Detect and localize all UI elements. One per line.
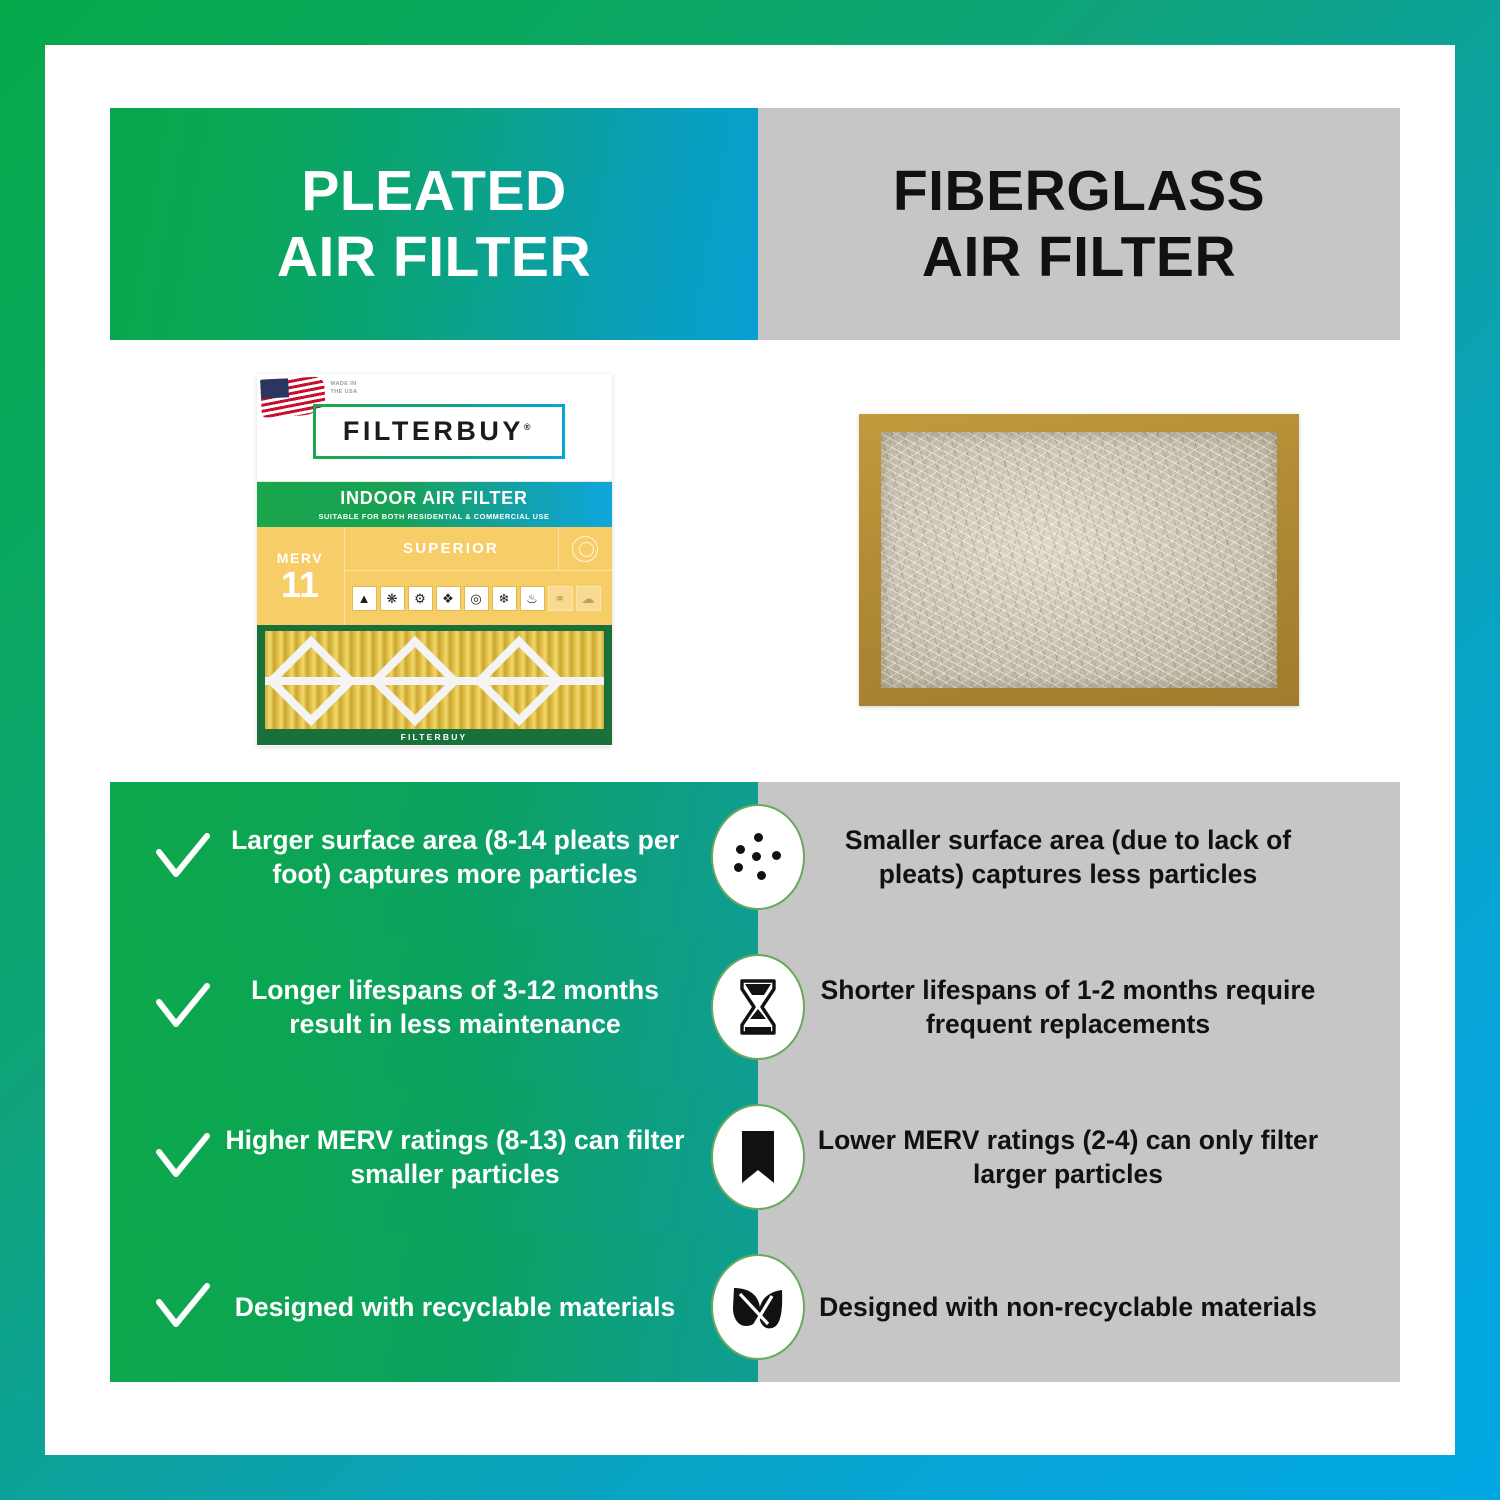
particle-dot [757, 871, 766, 880]
comparison-left-text: Larger surface area (8-14 pleats per foo… [222, 823, 740, 892]
particle-dot [754, 833, 763, 842]
comparison-right-text: Shorter lifespans of 1-2 months require … [806, 973, 1330, 1042]
product-cell-fiberglass [758, 340, 1400, 780]
comparison-row-right: Designed with non-recyclable materials [758, 1232, 1400, 1382]
dust-icon: ▲ [352, 586, 377, 611]
header-pleated: PLEATED AIR FILTER [110, 108, 758, 340]
checkmark-icon [144, 980, 222, 1034]
comparison-row-left: Larger surface area (8-14 pleats per foo… [110, 782, 758, 932]
product-label-top: MADE IN THE USA FILTERBUY® [257, 374, 612, 482]
comparison-row: Larger surface area (8-14 pleats per foo… [110, 782, 1400, 932]
mold-spore-icon: ⚙ [408, 586, 433, 611]
fiberglass-mesh [881, 432, 1277, 688]
header-pleated-line2: AIR FILTER [277, 225, 591, 289]
odor-icon-faded: ⚭ [548, 586, 573, 611]
merv-details: SUPERIOR ▲ ❋ ⚙ ❖ ◎ ❄ [345, 527, 612, 625]
comparison-row-right: Lower MERV ratings (2-4) can only filter… [758, 1082, 1400, 1232]
brand-plate: FILTERBUY® [313, 404, 565, 459]
brand-trademark: ® [524, 422, 534, 432]
comparison-row: Higher MERV ratings (8-13) can filter sm… [110, 1082, 1400, 1232]
comparison-row-left: Designed with recyclable materials [110, 1232, 758, 1382]
bookmark-icon [711, 1104, 805, 1210]
pollen-icon: ❋ [380, 586, 405, 611]
leaf-sprout-icon [711, 1254, 805, 1360]
product-label-band: INDOOR AIR FILTER SUITABLE FOR BOTH RESI… [257, 482, 612, 527]
comparison-left-text: Higher MERV ratings (8-13) can filter sm… [222, 1123, 740, 1192]
brand-name-text: FILTERBUY [343, 416, 524, 446]
checkmark-icon [144, 830, 222, 884]
header-fiberglass: FIBERGLASS AIR FILTER [758, 108, 1400, 340]
pleat-field [265, 631, 604, 731]
particle-dot [736, 845, 745, 854]
particles-dots [732, 831, 784, 883]
band-sub-text: SUITABLE FOR BOTH RESIDENTIAL & COMMERCI… [318, 512, 549, 521]
fiberglass-filter-product-image [859, 414, 1299, 706]
product-label-merv-section: MERV 11 SUPERIOR ▲ [257, 527, 612, 625]
comparison-panel: Larger surface area (8-14 pleats per foo… [110, 782, 1400, 1382]
support-diamond [265, 636, 356, 727]
band-main-text: INDOOR AIR FILTER [340, 488, 528, 509]
brand-name: FILTERBUY® [343, 416, 534, 447]
comparison-right-text: Designed with non-recyclable materials [806, 1290, 1330, 1324]
comparison-left-text: Longer lifespans of 3-12 months result i… [222, 973, 740, 1042]
checkmark-icon [144, 1280, 222, 1334]
feature-icons-row: ▲ ❋ ⚙ ❖ ◎ ❄ ♨ ⚭ ☁ [345, 571, 612, 625]
comparison-row-right: Shorter lifespans of 1-2 months require … [758, 932, 1400, 1082]
made-in-usa-label: MADE IN THE USA [331, 381, 358, 397]
particle-dot [734, 863, 743, 872]
header-pleated-title: PLEATED AIR FILTER [277, 158, 591, 290]
particles-icon [711, 804, 805, 910]
support-diamond [473, 636, 564, 727]
virus-icon: ◎ [464, 586, 489, 611]
header-fiberglass-line1: FIBERGLASS [893, 159, 1265, 223]
header-fiberglass-line2: AIR FILTER [922, 225, 1236, 289]
grade-row: SUPERIOR [345, 527, 612, 571]
made-in-usa-line2: THE USA [331, 389, 358, 395]
certification-seal [558, 527, 612, 570]
checkmark-icon [144, 1130, 222, 1184]
header-fiberglass-title: FIBERGLASS AIR FILTER [893, 158, 1265, 290]
smoke-icon: ♨ [520, 586, 545, 611]
comparison-row-left: Higher MERV ratings (8-13) can filter sm… [110, 1082, 758, 1232]
comparison-right-text: Lower MERV ratings (2-4) can only filter… [806, 1123, 1330, 1192]
particle-dot [772, 851, 781, 860]
pet-dander-icon: ❄ [492, 586, 517, 611]
seal-icon [572, 536, 598, 562]
pleated-filter-product-image: MADE IN THE USA FILTERBUY® INDOOR AIR FI… [257, 374, 612, 746]
product-cell-pleated: MADE IN THE USA FILTERBUY® INDOOR AIR FI… [110, 340, 758, 780]
gradient-border-frame: PLEATED AIR FILTER FIBERGLASS AIR FILTER [0, 0, 1500, 1500]
infographic-canvas: PLEATED AIR FILTER FIBERGLASS AIR FILTER [45, 45, 1455, 1455]
comparison-row-right: Smaller surface area (due to lack of ple… [758, 782, 1400, 932]
smog-icon-faded: ☁ [576, 586, 601, 611]
bacteria-icon: ❖ [436, 586, 461, 611]
pleated-media-area: FILTERBUY [257, 625, 612, 745]
made-in-usa-line1: MADE IN [331, 381, 357, 387]
particle-dot [752, 852, 761, 861]
comparison-row: Longer lifespans of 3-12 months result i… [110, 932, 1400, 1082]
comparison-row-left: Longer lifespans of 3-12 months result i… [110, 932, 758, 1082]
comparison-left-text: Designed with recyclable materials [222, 1290, 740, 1324]
comparison-row: Designed with recyclable materials Desig… [110, 1232, 1400, 1382]
comparison-right-text: Smaller surface area (due to lack of ple… [806, 823, 1330, 892]
merv-rating-block: MERV 11 [257, 527, 345, 625]
product-images-row: MADE IN THE USA FILTERBUY® INDOOR AIR FI… [110, 340, 1400, 780]
product-footer-brand: FILTERBUY [257, 729, 612, 745]
merv-value: 11 [281, 568, 319, 602]
headers-row: PLEATED AIR FILTER FIBERGLASS AIR FILTER [110, 108, 1400, 340]
grade-label: SUPERIOR [345, 540, 558, 557]
support-diamond [369, 636, 460, 727]
header-pleated-line1: PLEATED [301, 159, 566, 223]
hourglass-icon [711, 954, 805, 1060]
footer-brand-text: FILTERBUY [401, 732, 468, 742]
